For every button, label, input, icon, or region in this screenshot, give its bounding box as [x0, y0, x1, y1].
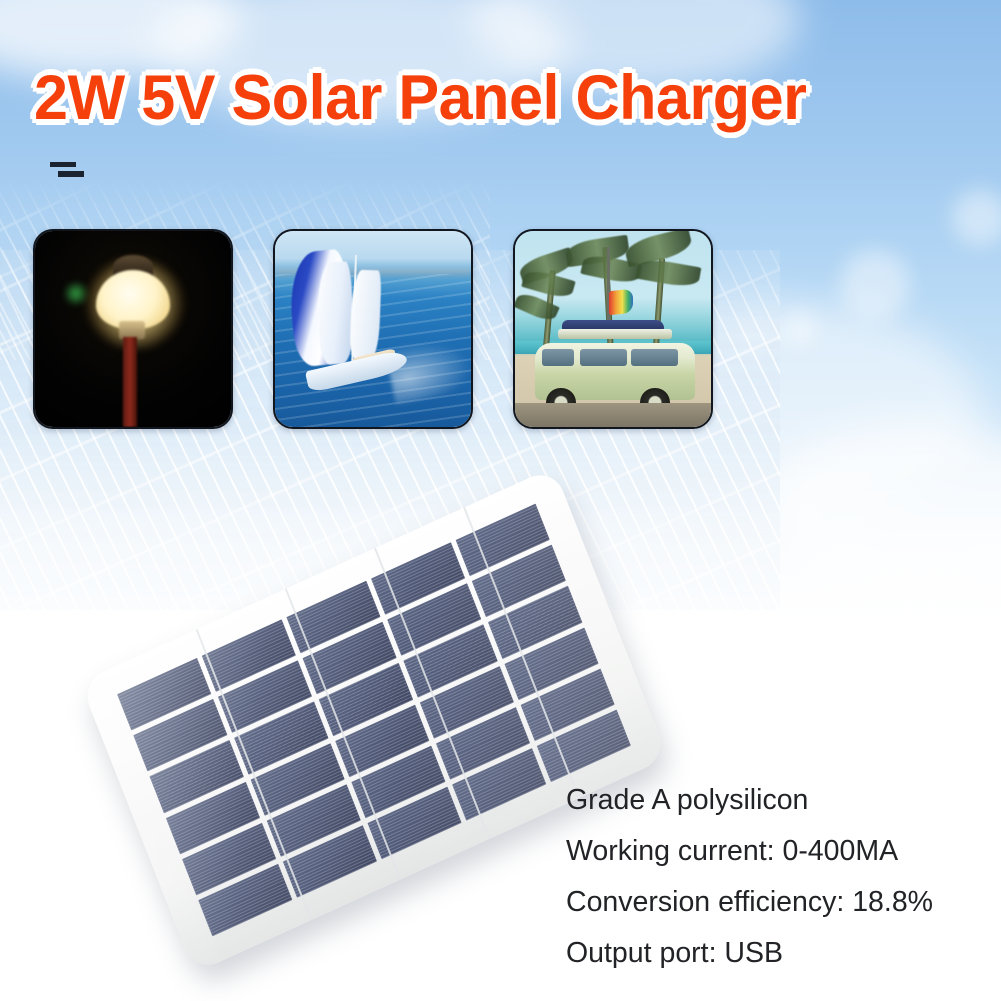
- thumbnail-camper-van[interactable]: [513, 229, 713, 429]
- bokeh-1: [840, 250, 910, 320]
- roof-rack: [558, 329, 672, 339]
- spec-item-material: Grade A polysilicon: [566, 786, 996, 815]
- spec-item-output: Output port: USB: [566, 939, 996, 968]
- spec-item-current: Working current: 0-400MA: [566, 837, 996, 866]
- van-window-front: [542, 349, 573, 367]
- title-artifact-dash-lower: [58, 171, 84, 177]
- solar-cell-grid: [117, 504, 631, 937]
- rainbow-flag-icon: [609, 289, 633, 315]
- bokeh-4: [952, 190, 1001, 246]
- page-title: 2W 5V Solar Panel Charger: [34, 62, 806, 134]
- thumbnail-sailboat[interactable]: [273, 229, 473, 429]
- product-banner: 2W 5V Solar Panel Charger: [0, 0, 1001, 1001]
- lamp-pole: [123, 337, 137, 427]
- van-window-mid: [580, 349, 627, 367]
- van-window-rear: [631, 349, 678, 367]
- spec-list: Grade A polysilicon Working current: 0-4…: [566, 786, 996, 990]
- title-artifact-dash-upper: [50, 162, 76, 167]
- spec-item-efficiency: Conversion efficiency: 18.8%: [566, 888, 996, 917]
- bokeh-3: [782, 312, 816, 346]
- main-sail: [315, 262, 356, 366]
- thumbnail-street-lamp[interactable]: [33, 229, 233, 429]
- roadway: [515, 403, 711, 427]
